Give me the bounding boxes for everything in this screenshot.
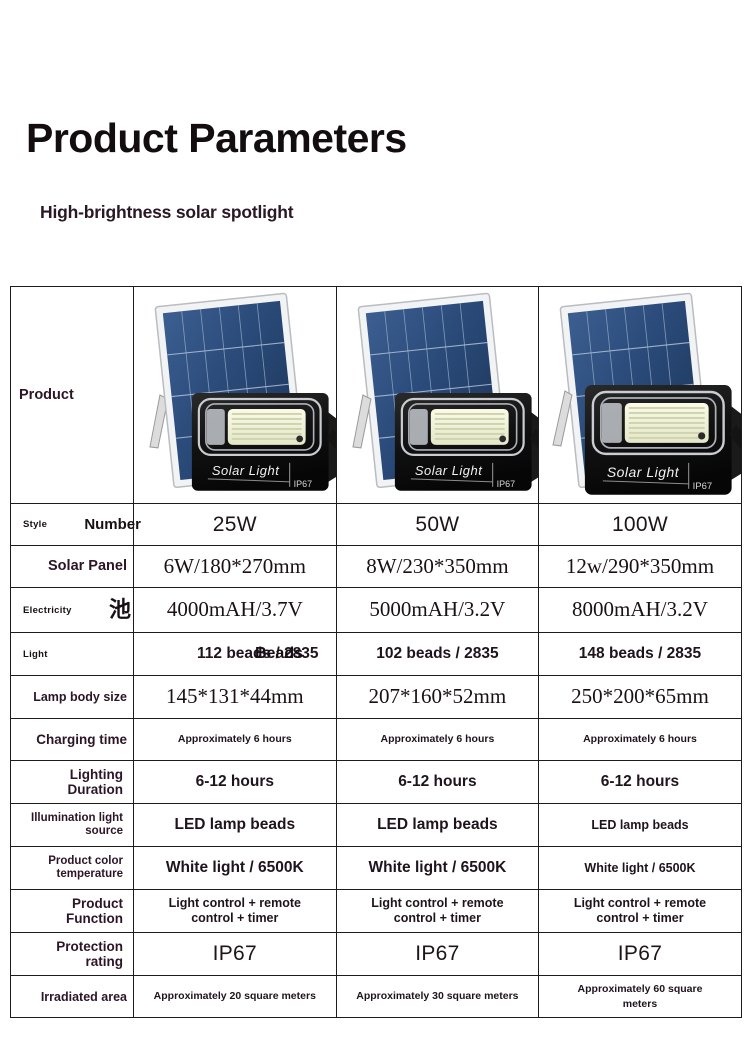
value-50w: IP67: [336, 933, 539, 976]
table-row: Charging time Approximately 6 hours Appr…: [11, 719, 742, 761]
value-100w: IP67: [539, 933, 742, 976]
table-row: Protection rating IP67 IP67 IP67: [11, 933, 742, 976]
value-25w: 112 beads / 2835: [134, 633, 337, 676]
value-25w: 6W/180*270mm: [134, 546, 337, 588]
row-label-major-cjk: 池: [109, 599, 131, 621]
value-50w: 6-12 hours: [336, 761, 539, 804]
value-25w: Approximately 20 square meters: [134, 976, 337, 1018]
table-row: Electricity 池 4000mAH/3.7V 5000mAH/3.2V …: [11, 588, 742, 633]
value-50w: 8W/230*350mm: [336, 546, 539, 588]
value-100w: Approximately 6 hours: [539, 719, 742, 761]
value-25w: IP67: [134, 933, 337, 976]
value-50w: LED lamp beads: [336, 804, 539, 847]
product-photo-cell-50w: Solar Light IP67: [336, 287, 539, 504]
table-row: Light Beads 112 beads / 2835 102 beads /…: [11, 633, 742, 676]
lamp-ip-rating-text: IP67: [693, 481, 712, 492]
value-100w: 12w/290*350mm: [539, 546, 742, 588]
table-body: Product: [11, 287, 742, 1018]
value-50w: 50W: [336, 504, 539, 546]
value-100w: 6-12 hours: [539, 761, 742, 804]
row-label-text: Solar Panel: [11, 558, 133, 574]
value-25w: 4000mAH/3.7V: [134, 588, 337, 633]
row-label-text: Lamp body size: [11, 690, 133, 704]
value-100w: Light control + remote control + timer: [539, 890, 742, 933]
table-row: Solar Panel 6W/180*270mm 8W/230*350mm 12…: [11, 546, 742, 588]
row-label-text: Irradiated area: [11, 990, 133, 1004]
row-label-text: Protection rating: [11, 939, 133, 969]
table-row: Product color temperature White light / …: [11, 847, 742, 890]
value-100w: 148 beads / 2835: [539, 633, 742, 676]
value-50w: 5000mAH/3.2V: [336, 588, 539, 633]
row-label-product-function: Product Function: [11, 890, 134, 933]
row-label-solar-panel: Solar Panel: [11, 546, 134, 588]
value-25w: 145*131*44mm: [134, 676, 337, 719]
row-label-text: Illumination light source: [11, 812, 133, 838]
row-label-lighting-duration: Lighting Duration: [11, 761, 134, 804]
row-label-minor: Electricity: [23, 605, 72, 616]
row-label-text: Product: [11, 387, 133, 403]
value-50w: White light / 6500K: [336, 847, 539, 890]
row-label-lamp-body-size: Lamp body size: [11, 676, 134, 719]
solar-light-photo-icon: Solar Light IP67: [539, 287, 741, 503]
page-subtitle: High-brightness solar spotlight: [40, 202, 293, 223]
row-label-minor: Light: [23, 649, 48, 660]
value-100w: 8000mAH/3.2V: [539, 588, 742, 633]
value-50w: Approximately 6 hours: [336, 719, 539, 761]
row-label-light-beads: Light Beads: [11, 633, 134, 676]
value-50w: Approximately 30 square meters: [336, 976, 539, 1018]
table-row: Product Function Light control + remote …: [11, 890, 742, 933]
product-photo-cell-100w: Solar Light IP67: [539, 287, 742, 504]
row-label-irradiated-area: Irradiated area: [11, 976, 134, 1018]
value-25w: Light control + remote control + timer: [134, 890, 337, 933]
product-parameters-table: Product: [10, 286, 742, 1018]
solar-light-photo-icon: Solar Light IP67: [337, 287, 539, 503]
row-label-style-number: Style Number: [11, 504, 134, 546]
table-row: Lamp body size 145*131*44mm 207*160*52mm…: [11, 676, 742, 719]
lamp-brand-text: Solar Light: [414, 463, 482, 478]
table-row: Product: [11, 287, 742, 504]
value-25w: White light / 6500K: [134, 847, 337, 890]
row-label-text: Lighting Duration: [11, 767, 133, 797]
row-label-text: Product Function: [11, 896, 133, 926]
row-label-major: Number: [84, 516, 141, 533]
page-title: Product Parameters: [26, 118, 407, 159]
table-row: Style Number 25W 50W 100W: [11, 504, 742, 546]
lamp-brand-text: Solar Light: [212, 463, 280, 478]
value-50w: 207*160*52mm: [336, 676, 539, 719]
row-label-text: Charging time: [11, 732, 133, 747]
table-row: Irradiated area Approximately 20 square …: [11, 976, 742, 1018]
table-row: Illumination light source LED lamp beads…: [11, 804, 742, 847]
row-label-electricity: Electricity 池: [11, 588, 134, 633]
row-label-product: Product: [11, 287, 134, 504]
row-label-major: Beads: [255, 645, 303, 663]
lamp-ip-rating-text: IP67: [496, 479, 514, 489]
row-label-charging-time: Charging time: [11, 719, 134, 761]
value-25w: Approximately 6 hours: [134, 719, 337, 761]
row-label-minor: Style: [23, 519, 47, 530]
value-25w: 25W: [134, 504, 337, 546]
table-row: Lighting Duration 6-12 hours 6-12 hours …: [11, 761, 742, 804]
solar-light-photo-icon: Solar Light IP67: [134, 287, 336, 503]
value-50w: 102 beads / 2835: [336, 633, 539, 676]
row-label-text: Product color temperature: [11, 855, 133, 881]
row-label-protection-rating: Protection rating: [11, 933, 134, 976]
value-50w: Light control + remote control + timer: [336, 890, 539, 933]
value-100w: LED lamp beads: [539, 804, 742, 847]
row-label-illumination-light-source: Illumination light source: [11, 804, 134, 847]
value-100w: Approximately 60 square meters: [539, 976, 742, 1018]
value-100w: 250*200*65mm: [539, 676, 742, 719]
value-25w: 6-12 hours: [134, 761, 337, 804]
value-100w: 100W: [539, 504, 742, 546]
lamp-brand-text: Solar Light: [607, 464, 680, 480]
row-label-product-color-temperature: Product color temperature: [11, 847, 134, 890]
value-25w: LED lamp beads: [134, 804, 337, 847]
product-photo-cell-25w: Solar Light IP67: [134, 287, 337, 504]
lamp-ip-rating-text: IP67: [294, 479, 312, 489]
value-100w: White light / 6500K: [539, 847, 742, 890]
